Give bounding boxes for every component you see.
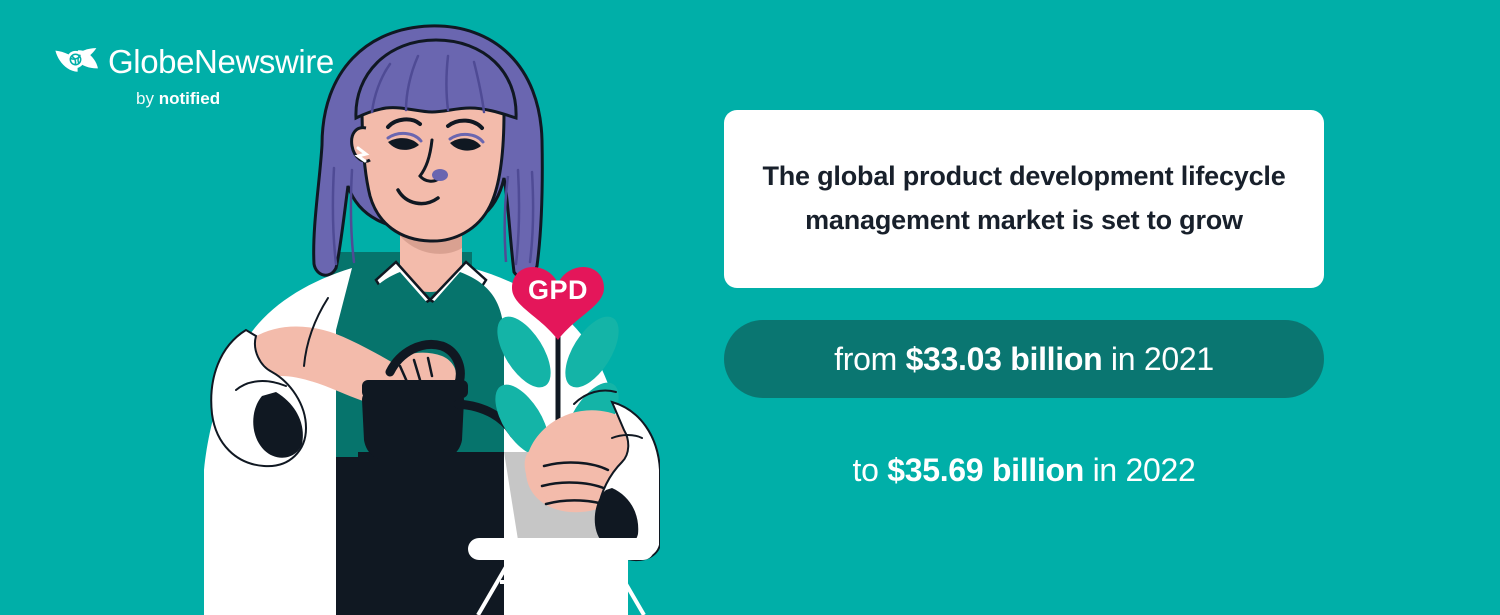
pill-suffix: in 2021 (1102, 341, 1213, 377)
infographic-banner: GlobeNewswire by notified (0, 0, 1500, 615)
headline-line-1: The global product development lifecycle (762, 161, 1285, 191)
headline-line-2: management market is set to grow (805, 205, 1243, 235)
market-value-2022-line: to $35.69 billion in 2022 (724, 440, 1324, 500)
tagline-value: $35.69 billion (887, 452, 1084, 488)
market-value-2021-pill: from $33.03 billion in 2021 (724, 320, 1324, 398)
scientist-watering-plant-illustration: GPD (100, 0, 660, 615)
globenewswire-trefoil-icon (52, 44, 104, 90)
headline-card: The global product development lifecycle… (724, 110, 1324, 288)
pill-value: $33.03 billion (906, 341, 1103, 377)
tagline-prefix: to (853, 452, 888, 488)
svg-text:GPD: GPD (528, 275, 588, 305)
tagline-suffix: in 2022 (1084, 452, 1195, 488)
pill-prefix: from (834, 341, 905, 377)
headline-text: The global product development lifecycle… (734, 155, 1313, 242)
market-value-2022-text: to $35.69 billion in 2022 (853, 454, 1196, 486)
market-value-2021-text: from $33.03 billion in 2021 (834, 343, 1214, 375)
